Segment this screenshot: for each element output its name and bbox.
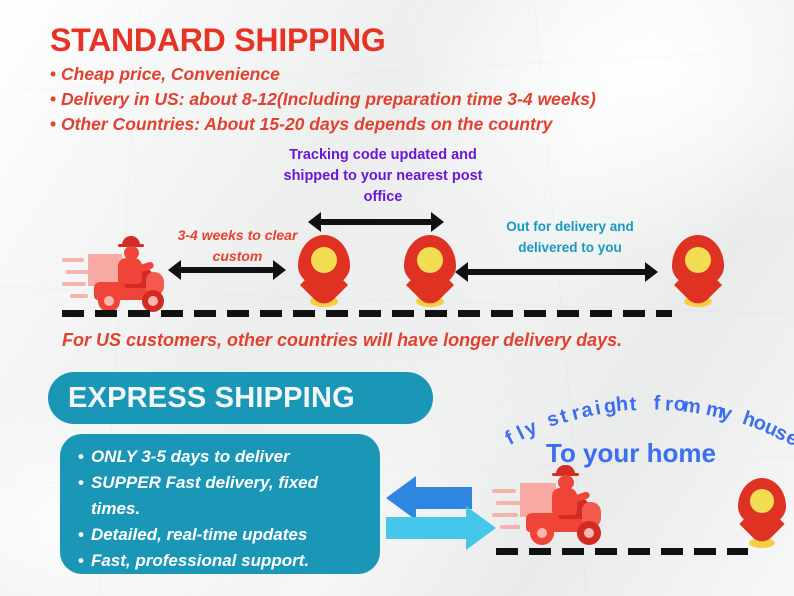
list-item: • Fast, professional support. [78, 548, 366, 574]
list-item-label: ONLY 3-5 days to deliver [91, 444, 290, 470]
arrow-right-icon [386, 506, 496, 550]
list-item: • Cheap price, Convenience [50, 62, 750, 87]
out-for-delivery-label-line2: delivered to you [482, 237, 658, 258]
list-item: • Detailed, real-time updates [78, 522, 366, 548]
bullet-marker: • [78, 470, 84, 522]
dashed-route-line-bottom [496, 548, 748, 555]
list-item-label: SUPPER Fast delivery, fixed times. [91, 470, 366, 522]
tracking-code-label-line2: shipped to your nearest post [258, 166, 508, 187]
map-pin-icon [738, 478, 786, 548]
list-item: • ONLY 3-5 days to deliver [78, 444, 366, 470]
out-for-delivery-label: Out for delivery and delivered to you [482, 216, 658, 258]
customs-clearance-label-line1: 3-4 weeks to clear [155, 225, 320, 246]
tracking-code-label-line3: office [258, 187, 508, 208]
express-shipping-bullet-list: • ONLY 3-5 days to deliver • SUPPER Fast… [60, 434, 380, 574]
standard-shipping-bullet-list: • Cheap price, Convenience • Delivery in… [50, 62, 750, 137]
shipping-infographic: STANDARD SHIPPING • Cheap price, Conveni… [0, 0, 794, 596]
map-pin-icon [404, 235, 456, 307]
bullet-marker: • [78, 522, 84, 548]
list-item-label: Fast, professional support. [91, 548, 309, 574]
to-your-home-label: To your home [546, 438, 716, 469]
arc-text-char: t [629, 393, 637, 416]
bullet-marker: • [78, 444, 84, 470]
list-item-label: Other Countries: About 15-20 days depend… [61, 114, 552, 134]
express-delivery-scooter-icon [492, 465, 610, 550]
us-customers-note: For US customers, other countries will h… [62, 330, 622, 351]
dashed-route-line [62, 310, 672, 317]
express-shipping-title: EXPRESS SHIPPING [68, 382, 355, 415]
bullet-marker: • [78, 548, 84, 574]
map-pin-icon [672, 235, 724, 307]
bullet-marker: • [50, 114, 56, 134]
arc-text-char [642, 392, 648, 415]
list-item-label: Cheap price, Convenience [61, 64, 280, 84]
bullet-marker: • [50, 64, 56, 84]
out-for-delivery-label-line1: Out for delivery and [482, 216, 658, 237]
standard-shipping-title: STANDARD SHIPPING [50, 22, 386, 59]
tracking-code-label: Tracking code updated and shipped to you… [258, 145, 508, 208]
bullet-marker: • [50, 89, 56, 109]
arc-text-char: h [615, 393, 629, 417]
list-item: • Other Countries: About 15-20 days depe… [50, 112, 750, 137]
express-shipping-banner: EXPRESS SHIPPING [48, 372, 433, 424]
list-item: • SUPPER Fast delivery, fixed times. [78, 470, 366, 522]
list-item-label: Delivery in US: about 8-12(Including pre… [61, 89, 596, 109]
list-item-label: Detailed, real-time updates [91, 522, 307, 548]
delivery-scooter-icon [62, 232, 174, 310]
arc-text-char: f [653, 392, 660, 415]
arc-text-char: i [594, 397, 604, 421]
list-item: • Delivery in US: about 8-12(Including p… [50, 87, 750, 112]
arc-text-char: r [664, 393, 673, 416]
map-pin-icon [298, 235, 350, 307]
tracking-code-label-line1: Tracking code updated and [258, 145, 508, 166]
